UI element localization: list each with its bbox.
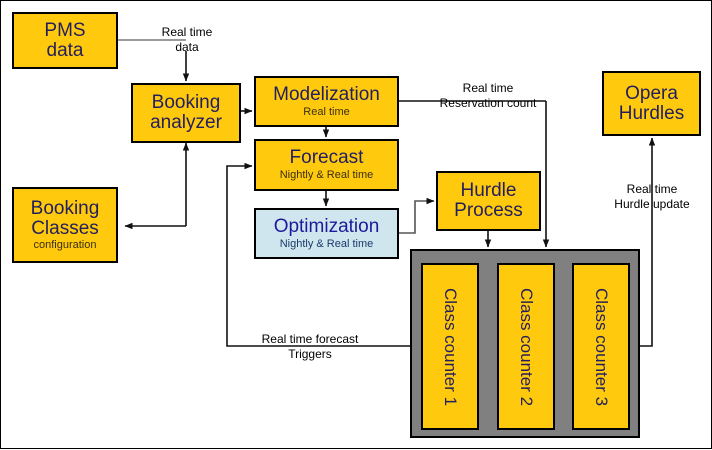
node-opera-hurdles[interactable]: Opera Hurdles: [602, 71, 701, 136]
counter-2-label: Class counter 2: [516, 287, 536, 405]
label-forecast-triggers-line1: Real time forecast: [254, 332, 366, 347]
modelization-sub: Real time: [303, 107, 349, 119]
hurdle-process-line2: Process: [454, 201, 523, 221]
node-booking-analyzer[interactable]: Booking analyzer: [131, 83, 241, 143]
pms-data-line1: PMS: [44, 21, 85, 41]
counter-box-1[interactable]: Class counter 1: [421, 263, 479, 430]
optimization-title: Optimization: [274, 217, 380, 237]
label-reservation-count: Real time Reservation count: [429, 81, 547, 111]
node-pms-data[interactable]: PMS data: [12, 12, 118, 69]
label-hurdle-update: Real time Hurdle update: [599, 182, 705, 212]
label-hurdle-update-line1: Real time: [599, 182, 705, 197]
label-forecast-triggers: Real time forecast Triggers: [254, 332, 366, 362]
label-real-time-data-line1: Real time: [147, 25, 227, 40]
label-forecast-triggers-line2: Triggers: [254, 347, 366, 362]
forecast-sub: Nightly & Real time: [280, 170, 374, 182]
label-real-time-data-line2: data: [147, 40, 227, 55]
opera-hurdles-line2: Hurdles: [619, 104, 684, 124]
booking-analyzer-line2: analyzer: [150, 113, 222, 133]
diagram-canvas: PMS data Booking analyzer Booking Classe…: [0, 0, 712, 449]
counter-box-2[interactable]: Class counter 2: [497, 263, 555, 430]
modelization-title: Modelization: [273, 85, 380, 105]
pms-data-line2: data: [47, 41, 84, 61]
node-modelization[interactable]: Modelization Real time: [254, 76, 399, 127]
hurdle-process-line1: Hurdle: [461, 181, 517, 201]
counter-box-3[interactable]: Class counter 3: [572, 263, 630, 430]
node-hurdle-process[interactable]: Hurdle Process: [436, 171, 541, 231]
node-booking-classes[interactable]: Booking Classes configuration: [12, 187, 118, 263]
node-optimization[interactable]: Optimization Nightly & Real time: [254, 208, 399, 259]
label-hurdle-update-line2: Hurdle update: [599, 197, 705, 212]
label-reservation-count-line2: Reservation count: [429, 96, 547, 111]
booking-classes-line1: Booking: [31, 199, 100, 219]
node-forecast[interactable]: Forecast Nightly & Real time: [254, 139, 399, 191]
class-counter-container: Class counter 1 Class counter 2 Class co…: [410, 249, 640, 438]
label-real-time-data: Real time data: [147, 25, 227, 55]
label-reservation-count-line1: Real time: [429, 81, 547, 96]
booking-analyzer-line1: Booking: [152, 93, 221, 113]
optimization-sub: Nightly & Real time: [280, 239, 374, 251]
booking-classes-sub: configuration: [34, 240, 97, 252]
counter-1-label: Class counter 1: [440, 287, 460, 405]
booking-classes-line2: Classes: [31, 219, 99, 239]
counter-3-label: Class counter 3: [591, 287, 611, 405]
opera-hurdles-line1: Opera: [625, 84, 678, 104]
forecast-title: Forecast: [290, 148, 364, 168]
